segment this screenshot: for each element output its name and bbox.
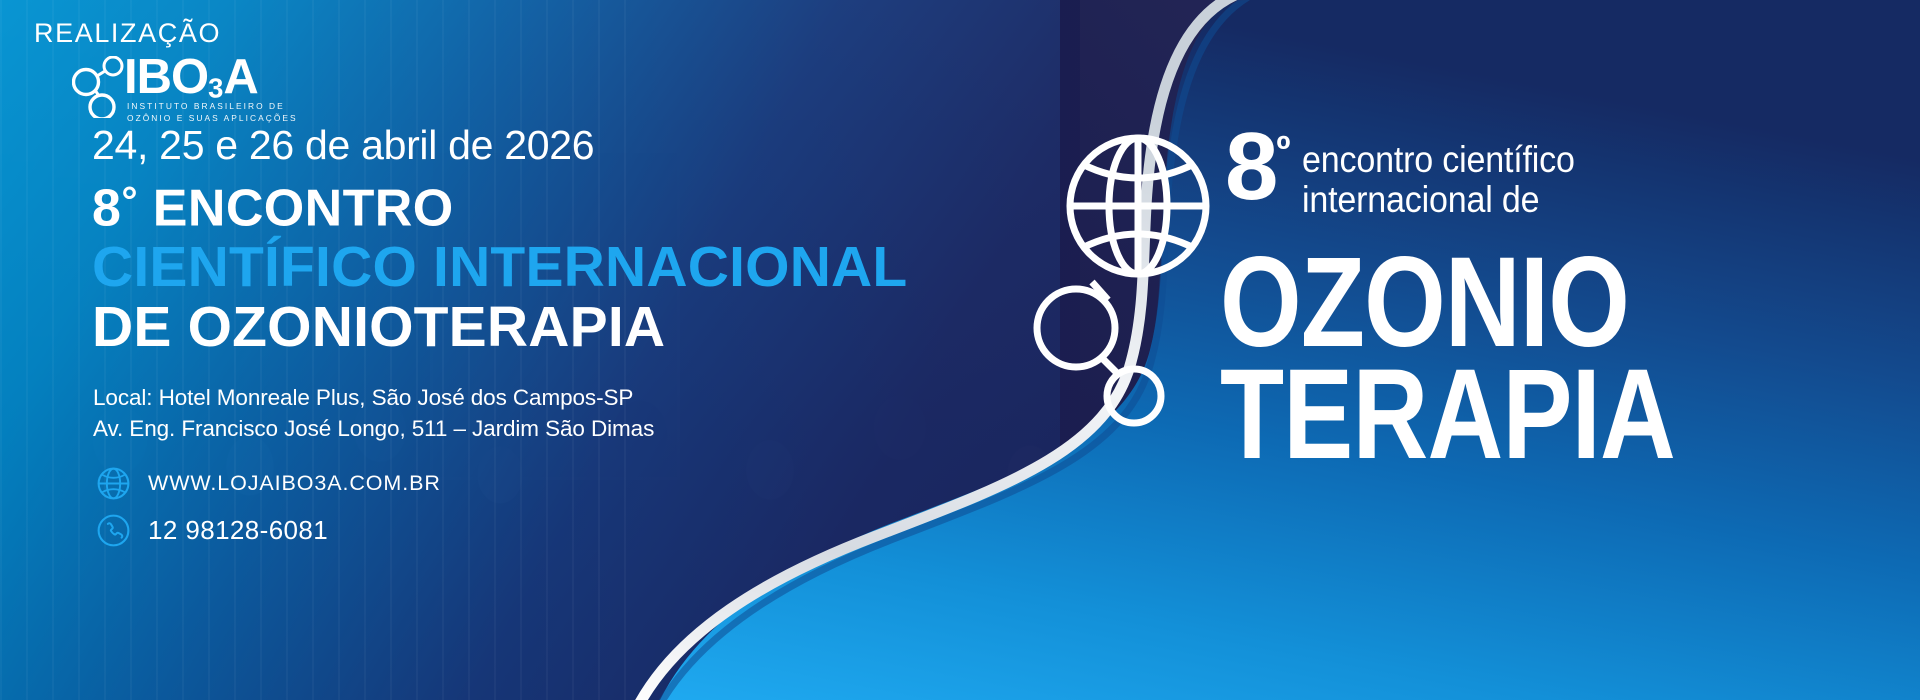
globe-icon [96, 466, 131, 501]
logo-text-a: A [223, 50, 257, 104]
left-content: REALIZAÇÃO IBO3A INSTITUTO BRASILEIRO DE… [0, 0, 980, 700]
tagline-line-1: INSTITUTO BRASILEIRO DE [127, 100, 377, 112]
phone-text: 12 98128-6081 [148, 515, 328, 546]
ibo3a-tagline: INSTITUTO BRASILEIRO DE OZÔNIO E SUAS AP… [127, 100, 377, 124]
globe-molecule-icon [1030, 130, 1230, 430]
right-subtitle-line-1: encontro científico [1302, 140, 1575, 180]
headline-line-3: DE OZONIOTERAPIA [92, 300, 665, 355]
website-text: WWW.LOJAIBO3A.COM.BR [148, 471, 441, 496]
realizacao-label: REALIZAÇÃO [34, 18, 221, 49]
headline-line-1: 8° ENCONTRO [92, 182, 454, 234]
headline-line-2: CIENTÍFICO INTERNACIONAL [92, 240, 907, 295]
phone-icon [96, 513, 131, 548]
right-title-terapia: TERAPIA [1220, 360, 1675, 470]
molecule-icon [72, 56, 128, 118]
right-content: 8º encontro científico internacional de … [1020, 0, 1920, 700]
right-title-ozonio: OZONIO [1220, 248, 1629, 358]
ibo3a-logo: IBO3A INSTITUTO BRASILEIRO DE OZÔNIO E S… [72, 56, 372, 118]
event-banner: REALIZAÇÃO IBO3A INSTITUTO BRASILEIRO DE… [0, 0, 1920, 700]
event-date: 24, 25 e 26 de abril de 2026 [92, 122, 594, 169]
phone-row[interactable]: 12 98128-6081 [96, 513, 328, 548]
right-subtitle-line-2: internacional de [1302, 180, 1575, 220]
venue-line-2: Av. Eng. Francisco José Longo, 511 – Jar… [93, 416, 654, 442]
right-subtitle: encontro científico internacional de [1302, 128, 1575, 220]
ibo3a-wordmark: IBO3A [124, 53, 258, 102]
right-edition-number-group: 8º [1225, 128, 1288, 207]
logo-text-ibo: IBO [124, 50, 208, 104]
headline-degree-sign: ° [121, 178, 138, 224]
right-edition-block: 8º encontro científico internacional de [1225, 128, 1599, 220]
venue-line-1: Local: Hotel Monreale Plus, São José dos… [93, 385, 633, 411]
right-degree-sign: º [1276, 129, 1288, 172]
headline-edition-number: 8 [92, 180, 121, 238]
right-edition-number: 8 [1225, 113, 1276, 220]
website-row[interactable]: WWW.LOJAIBO3A.COM.BR [96, 466, 441, 501]
headline-encontro-word: ENCONTRO [138, 180, 454, 238]
logo-text-3: 3 [208, 73, 223, 104]
